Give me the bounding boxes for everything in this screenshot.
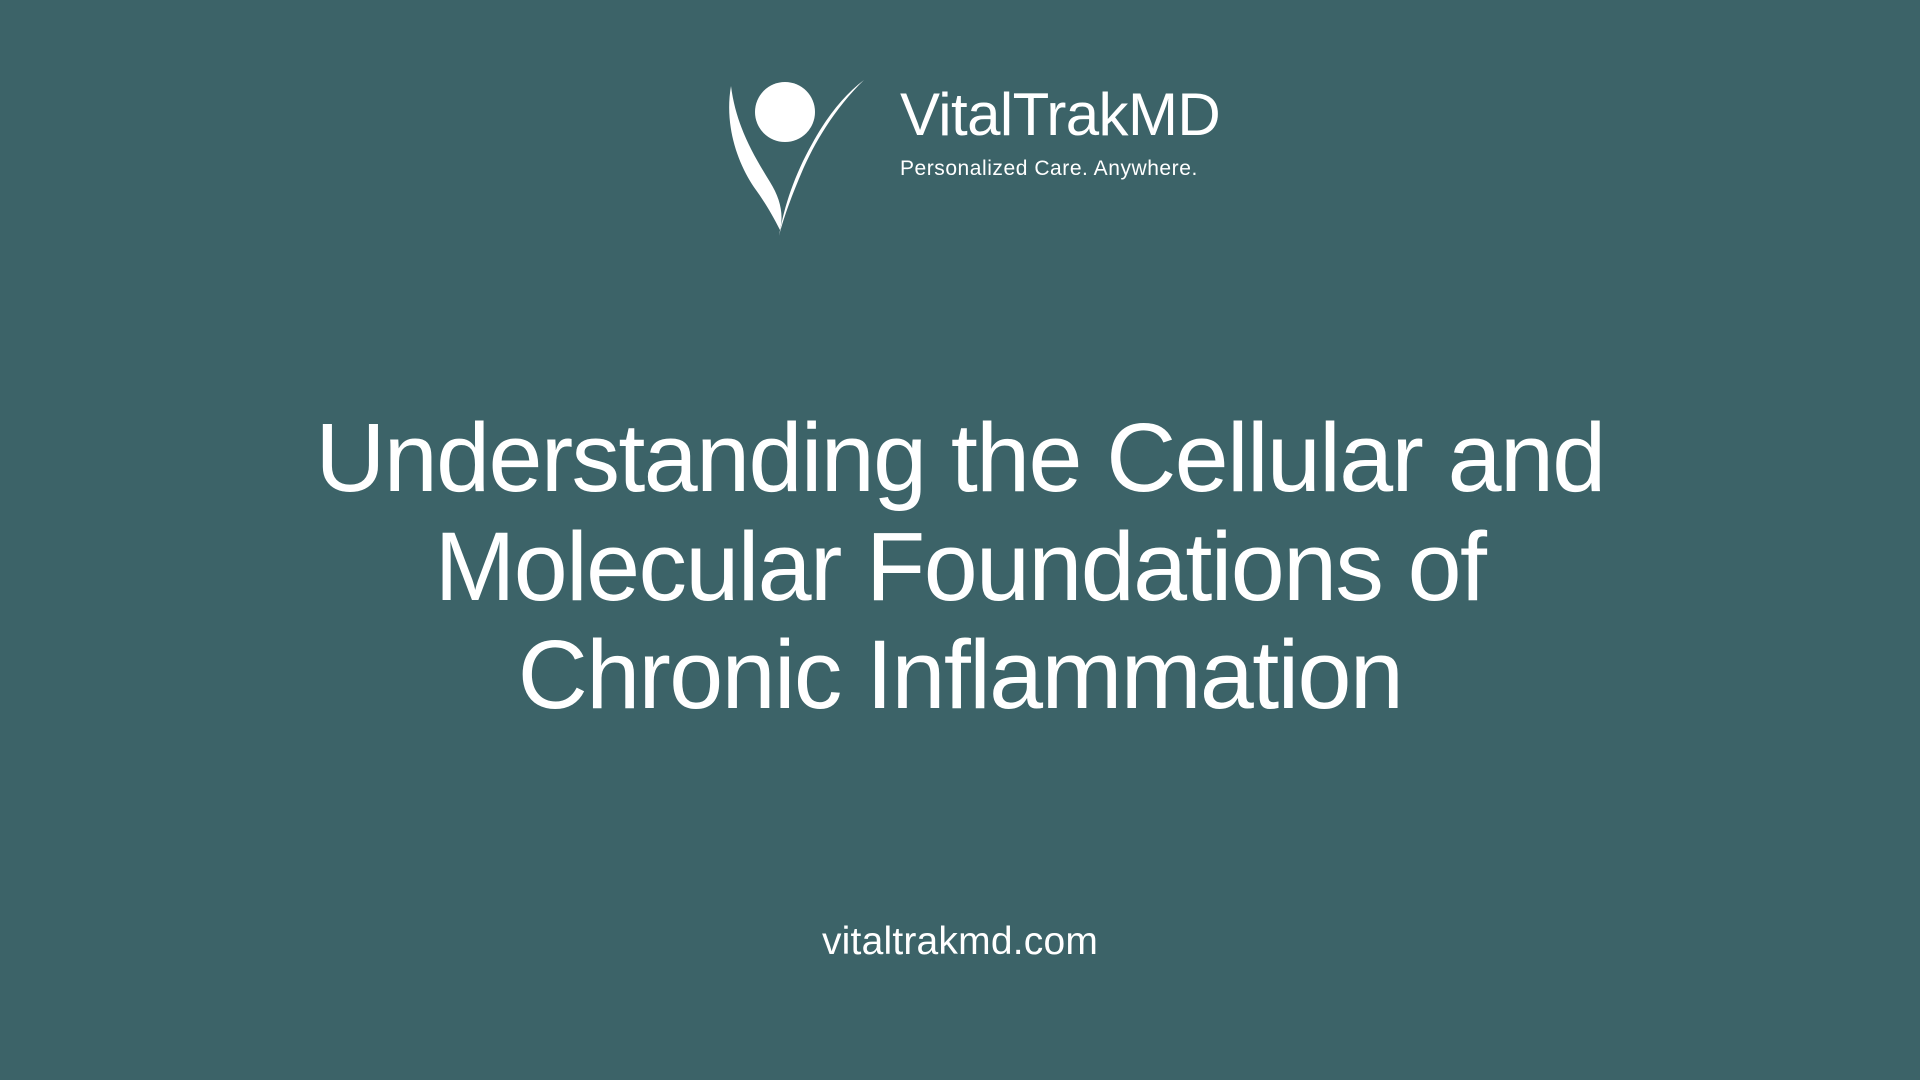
brand-name: VitalTrakMD <box>900 84 1220 146</box>
wordmark-block: VitalTrakMD Personalized Care. Anywhere. <box>900 62 1220 180</box>
headline-line-3: Chronic Inflammation <box>110 621 1810 730</box>
headline-line-2: Molecular Foundations of <box>110 513 1810 622</box>
brand-lockup: VitalTrakMD Personalized Care. Anywhere. <box>0 62 1920 246</box>
vitaltrak-figure-icon <box>700 64 878 246</box>
brand-tagline: Personalized Care. Anywhere. <box>900 157 1198 180</box>
page-title: Understanding the Cellular and Molecular… <box>110 404 1810 730</box>
headline-line-1: Understanding the Cellular and <box>110 404 1810 513</box>
footer-url[interactable]: vitaltrakmd.com <box>0 920 1920 964</box>
title-slide: VitalTrakMD Personalized Care. Anywhere.… <box>0 0 1920 1080</box>
